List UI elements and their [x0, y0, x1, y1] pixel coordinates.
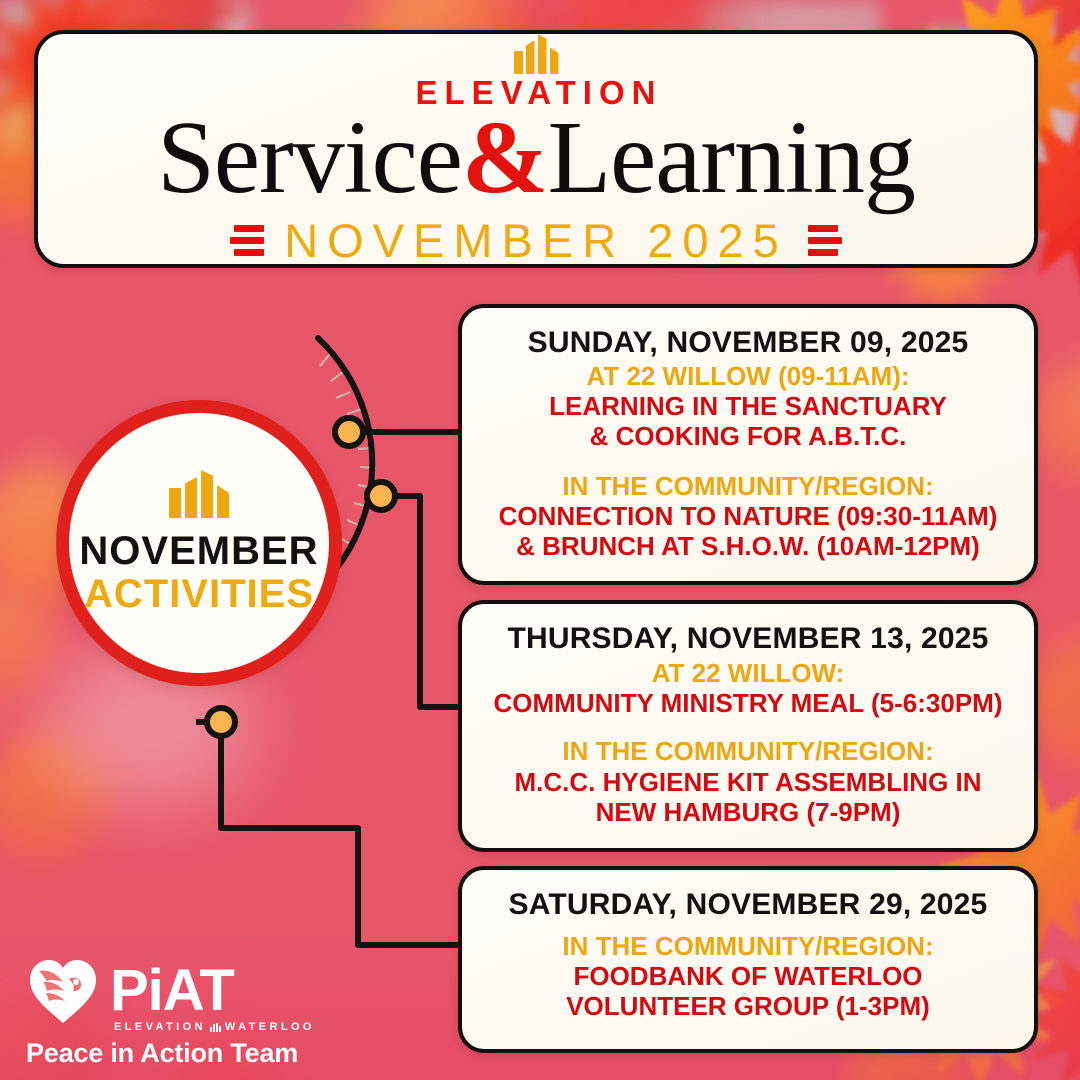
- event-detail: CONNECTION TO NATURE (09:30-11AM): [484, 501, 1012, 531]
- elevation-bars-mini-icon: [210, 1023, 221, 1032]
- title-part-2: Learning: [548, 100, 915, 215]
- triple-bar-right-icon: [808, 225, 842, 256]
- event-block: AT 22 WILLOW: COMMUNITY MINISTRY MEAL (5…: [484, 658, 1012, 718]
- event-date: SUNDAY, NOVEMBER 09, 2025: [528, 326, 969, 359]
- event-detail: & COOKING FOR A.B.T.C.: [484, 421, 1012, 451]
- event-blocks: IN THE COMMUNITY/REGION: FOODBANK OF WAT…: [484, 921, 1012, 1031]
- event-location: AT 22 WILLOW:: [484, 658, 1012, 688]
- event-date: SATURDAY, NOVEMBER 29, 2025: [509, 888, 988, 921]
- event-block: IN THE COMMUNITY/REGION: CONNECTION TO N…: [484, 471, 1012, 561]
- subtitle-row: NOVEMBER 2025: [230, 217, 842, 264]
- page-title: Service&Learning: [157, 107, 915, 209]
- event-block: IN THE COMMUNITY/REGION: FOODBANK OF WAT…: [484, 931, 1012, 1021]
- event-card[interactable]: THURSDAY, NOVEMBER 13, 2025 AT 22 WILLOW…: [458, 600, 1038, 852]
- event-detail: M.C.C. HYGIENE KIT ASSEMBLING IN: [484, 767, 1012, 797]
- elevation-bars-icon: [169, 470, 229, 518]
- event-block: IN THE COMMUNITY/REGION: M.C.C. HYGIENE …: [484, 736, 1012, 826]
- month-year-subtitle: NOVEMBER 2025: [284, 217, 788, 264]
- event-detail: NEW HAMBURG (7-9PM): [484, 797, 1012, 827]
- heart-dove-icon: [26, 955, 100, 1027]
- piat-tagline: Peace in Action Team: [26, 1038, 326, 1069]
- event-location: AT 22 WILLOW (09-11AM):: [484, 361, 1012, 391]
- piat-sub-right: WATERLOO: [225, 1021, 315, 1033]
- event-detail: FOODBANK OF WATERLOO: [484, 961, 1012, 991]
- piat-logo-row: PiAT: [26, 955, 326, 1027]
- wire-to-card-3: [221, 722, 458, 945]
- triple-bar-left-icon: [230, 225, 264, 256]
- event-blocks: AT 22 WILLOW (09-11AM): LEARNING IN THE …: [484, 359, 1012, 563]
- elevation-bars-icon: [514, 34, 559, 74]
- badge-line-1: NOVEMBER: [79, 530, 318, 572]
- event-detail: & BRUNCH AT S.H.O.W. (10AM-12PM): [484, 531, 1012, 561]
- event-blocks: AT 22 WILLOW: COMMUNITY MINISTRY MEAL (5…: [484, 655, 1012, 830]
- title-ampersand: &: [462, 100, 548, 215]
- header-banner: ELEVATION Service&Learning NOVEMBER 2025: [34, 30, 1038, 268]
- event-location: IN THE COMMUNITY/REGION:: [484, 471, 1012, 501]
- piat-logo: PiAT ELEVATION WATERLOO Peace in Action …: [26, 955, 326, 1055]
- event-card[interactable]: SUNDAY, NOVEMBER 09, 2025 AT 22 WILLOW (…: [458, 304, 1038, 585]
- wire-to-card-2: [381, 496, 458, 707]
- piat-subtitle: ELEVATION WATERLOO: [114, 1021, 326, 1033]
- november-activities-badge: NOVEMBER ACTIVITIES: [48, 392, 378, 722]
- event-date: THURSDAY, NOVEMBER 13, 2025: [507, 622, 988, 655]
- badge-circle: NOVEMBER ACTIVITIES: [56, 400, 342, 686]
- event-detail: VOLUNTEER GROUP (1-3PM): [484, 991, 1012, 1021]
- title-part-1: Service: [157, 100, 462, 215]
- event-location: IN THE COMMUNITY/REGION:: [484, 931, 1012, 961]
- event-detail: COMMUNITY MINISTRY MEAL (5-6:30PM): [484, 688, 1012, 718]
- event-block: AT 22 WILLOW (09-11AM): LEARNING IN THE …: [484, 361, 1012, 451]
- piat-wordmark: PiAT: [110, 963, 234, 1018]
- event-card[interactable]: SATURDAY, NOVEMBER 29, 2025 IN THE COMMU…: [458, 866, 1038, 1053]
- event-location: IN THE COMMUNITY/REGION:: [484, 736, 1012, 766]
- badge-line-2: ACTIVITIES: [84, 572, 314, 616]
- piat-sub-left: ELEVATION: [114, 1021, 206, 1033]
- event-detail: LEARNING IN THE SANCTUARY: [484, 391, 1012, 421]
